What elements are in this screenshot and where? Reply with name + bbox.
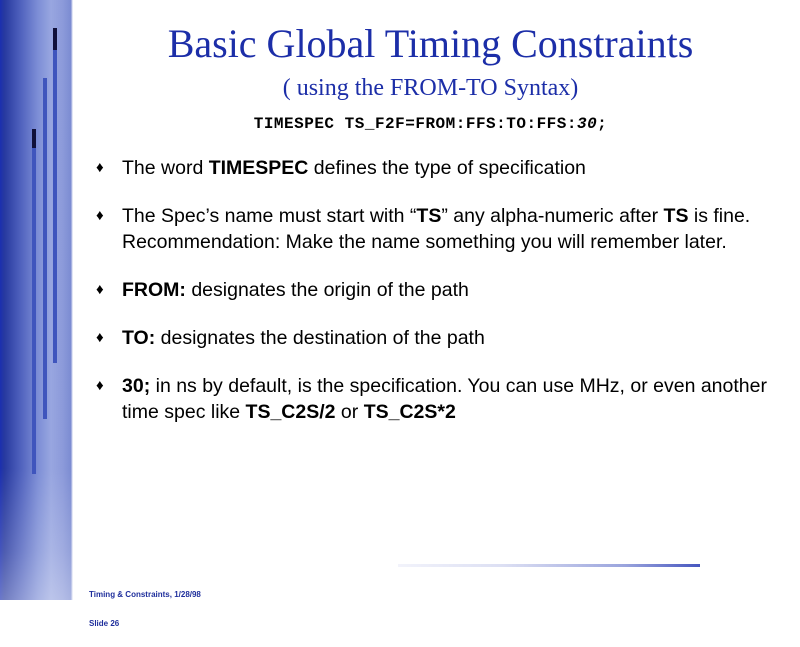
line-stem [43,78,47,419]
bullet-item: ♦The word TIMESPEC defines the type of s… [92,155,782,181]
bullet-item: ♦FROM: designates the origin of the path [92,277,782,303]
bullet-item-label: TO: designates the destination of the pa… [122,327,485,349]
syntax-prefix: TIMESPEC TS_F2F=FROM:FFS:TO:FFS: [254,115,577,133]
slide-title: Basic Global Timing Constraints [73,20,788,68]
footer-rule [398,564,700,567]
decorative-vertical-line-left [32,129,36,474]
decorative-vertical-line-middle [43,78,47,419]
bullet-item-label: The Spec’s name must start with “TS” any… [122,205,750,253]
line-cap-dark [32,129,36,148]
syntax-value: 30 [577,115,597,133]
footer-line-1: Timing & Constraints, 1/28/98 [89,590,201,600]
bullet-item-label: 30; in ns by default, is the specificati… [122,375,767,423]
line-stem [32,148,36,474]
diamond-bullet-icon: ♦ [96,373,104,399]
syntax-terminator: ; [597,115,607,133]
bullet-item-label: The word TIMESPEC defines the type of sp… [122,157,586,179]
diamond-bullet-icon: ♦ [96,277,104,303]
diamond-bullet-icon: ♦ [96,203,104,229]
diamond-bullet-icon: ♦ [96,155,104,181]
bullet-list: ♦The word TIMESPEC defines the type of s… [92,155,782,447]
footer-line-2: Slide 26 [89,619,201,629]
bullet-item: ♦30; in ns by default, is the specificat… [92,373,782,425]
bullet-item: ♦The Spec’s name must start with “TS” an… [92,203,782,255]
slide-subtitle: ( using the FROM-TO Syntax) [73,74,788,102]
bullet-item: ♦TO: designates the destination of the p… [92,325,782,351]
left-gradient-band [0,0,73,600]
timespec-syntax-line: TIMESPEC TS_F2F=FROM:FFS:TO:FFS:30; [73,115,788,133]
decorative-vertical-line-right [53,28,57,363]
line-stem [53,50,57,363]
slide-canvas: Basic Global Timing Constraints ( using … [0,0,800,600]
bullet-item-label: FROM: designates the origin of the path [122,279,469,301]
line-cap-dark [53,28,57,50]
diamond-bullet-icon: ♦ [96,325,104,351]
footer-text: Timing & Constraints, 1/28/98 Slide 26 [89,571,201,647]
